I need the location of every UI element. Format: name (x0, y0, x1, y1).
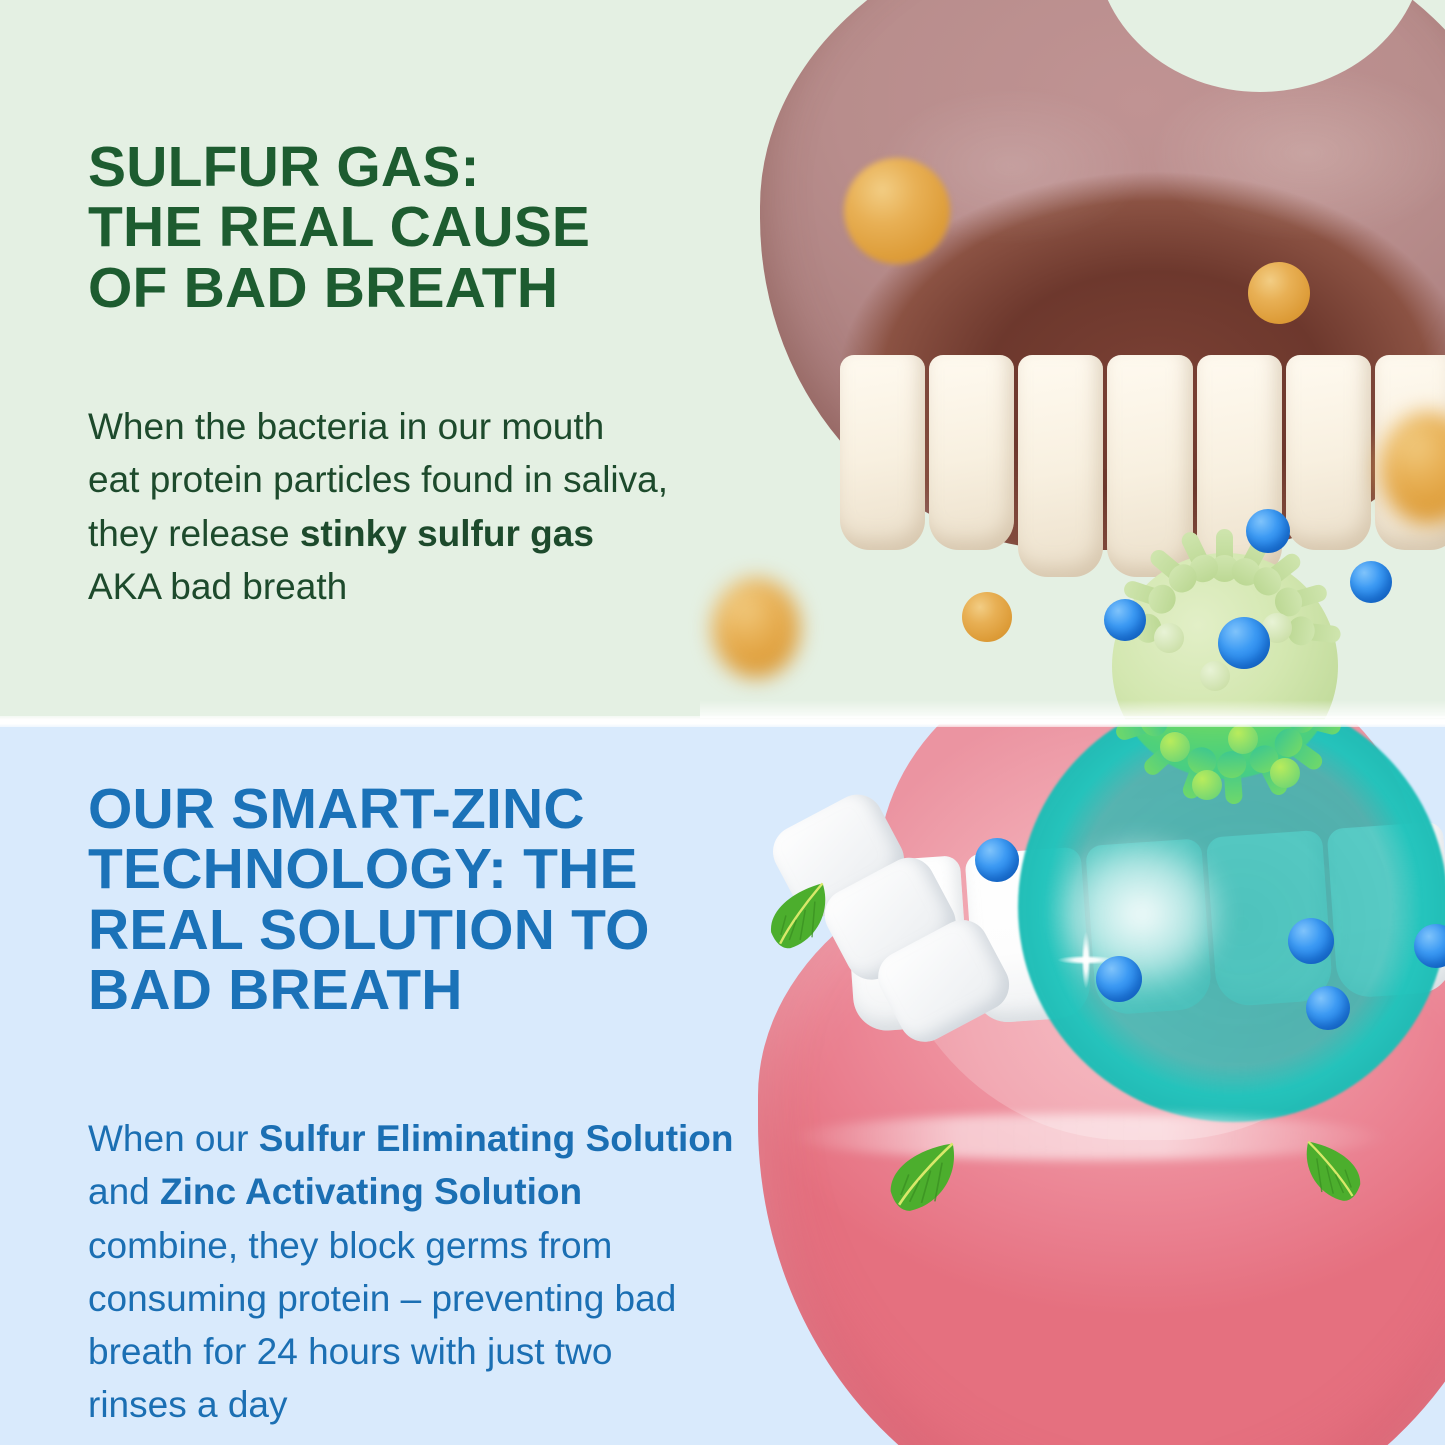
germ-bump (1192, 770, 1222, 800)
sulfur-particle (1248, 262, 1310, 324)
top-heading: SULFUR GAS: THE REAL CAUSE OF BAD BREATH (88, 137, 728, 318)
germ-upper-half (1060, 495, 1400, 722)
germ-lower-half (1060, 722, 1400, 885)
bottom-body-line: and Zinc Activating Solution (88, 1165, 748, 1218)
top-heading-line: OF BAD BREATH (88, 258, 728, 318)
top-body-line: they release stinky sulfur gas (88, 507, 728, 560)
germ-bump (1160, 732, 1190, 762)
bottom-heading-line: BAD BREATH (88, 960, 718, 1020)
germ-spike (1223, 764, 1243, 805)
section-divider (0, 716, 1445, 727)
infographic-poster: SULFUR GAS: THE REAL CAUSE OF BAD BREATH… (0, 0, 1445, 1445)
bottom-body-line: rinses a day (88, 1378, 748, 1431)
germ-bump (1270, 758, 1300, 788)
germ-spike (1300, 622, 1342, 643)
sulfur-particle (844, 158, 950, 264)
bottom-body-line: consuming protein – preventing bad (88, 1272, 748, 1325)
bottom-heading: OUR SMART-ZINC TECHNOLOGY: THE REAL SOLU… (88, 779, 718, 1021)
top-body-line: When the bacteria in our mouth (88, 400, 728, 453)
tooth (840, 355, 925, 550)
bottom-heading-line: REAL SOLUTION TO (88, 900, 718, 960)
zinc-particle (1218, 617, 1270, 669)
top-body-line: eat protein particles found in saliva, (88, 453, 728, 506)
zinc-particle (975, 838, 1019, 882)
top-heading-line: SULFUR GAS: (88, 137, 728, 197)
zinc-particle (1288, 918, 1334, 964)
zinc-particle (1104, 599, 1146, 641)
bottom-body-line: breath for 24 hours with just two (88, 1325, 748, 1378)
germ-bump (1154, 623, 1184, 653)
top-text-panel: SULFUR GAS: THE REAL CAUSE OF BAD BREATH… (0, 0, 740, 722)
germ-bump (1200, 661, 1230, 691)
zinc-particle (1246, 509, 1290, 553)
zinc-particle (1096, 956, 1142, 1002)
bottom-body-copy: When our Sulfur Eliminating Solution and… (88, 1112, 748, 1432)
bottom-heading-line: OUR SMART-ZINC (88, 779, 718, 839)
bottom-body-line: combine, they block germs from (88, 1219, 748, 1272)
zinc-particle (1306, 986, 1350, 1030)
sulfur-producing-germ (1060, 495, 1400, 885)
germ-spike (1216, 529, 1233, 569)
sulfur-particle (962, 592, 1012, 642)
bottom-body-line: When our Sulfur Eliminating Solution (88, 1112, 748, 1165)
bottom-heading-line: TECHNOLOGY: THE (88, 839, 718, 899)
germ-bump (1228, 724, 1258, 754)
bottom-text-panel: OUR SMART-ZINC TECHNOLOGY: THE REAL SOLU… (0, 722, 740, 1445)
tooth (929, 355, 1014, 550)
top-body-line: AKA bad breath (88, 560, 728, 613)
zinc-particle (1350, 561, 1392, 603)
top-body-copy: When the bacteria in our mouth eat prote… (88, 400, 728, 613)
top-heading-line: THE REAL CAUSE (88, 197, 728, 257)
